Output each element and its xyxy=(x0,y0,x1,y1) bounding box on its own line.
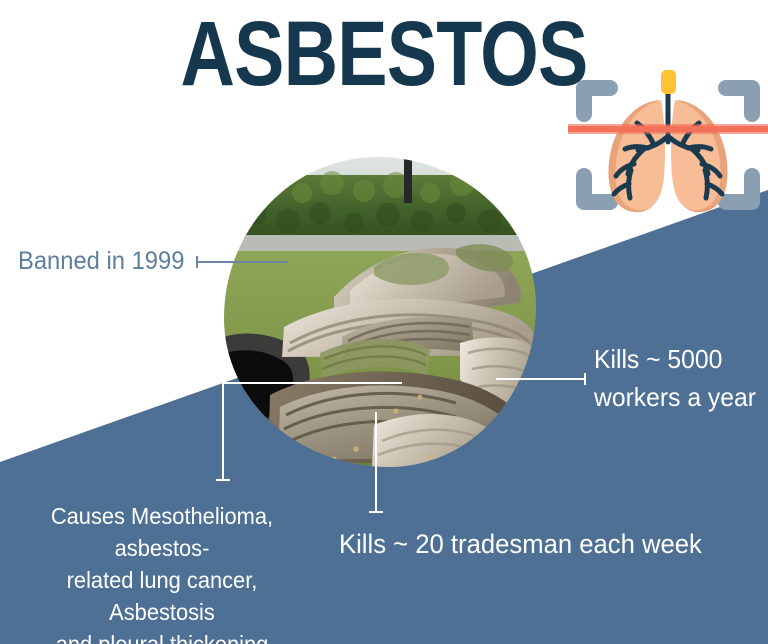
infographic-canvas: ASBESTOS xyxy=(0,0,768,644)
callout-causes-diseases: Causes Mesothelioma, asbestos- related l… xyxy=(14,500,310,644)
callout-kills-workers-line2: workers a year xyxy=(594,378,765,416)
callout-banned-in-1999: Banned in 1999 xyxy=(18,246,184,276)
trachea-tip-icon xyxy=(661,70,676,94)
callout-causes-line1: Causes Mesothelioma, asbestos- xyxy=(14,500,310,564)
callout-kills-tradesman: Kills ~ 20 tradesman each week xyxy=(339,527,702,561)
callout-kills-workers-line1: Kills ~ 5000 xyxy=(594,340,765,378)
asbestos-photo xyxy=(224,157,536,467)
callout-causes-line2: related lung cancer, Asbestosis xyxy=(14,564,310,628)
lungs-scan-graphic xyxy=(568,52,768,242)
callout-kills-workers: Kills ~ 5000 workers a year xyxy=(594,340,765,416)
callout-causes-line3: and pleural thickening xyxy=(14,628,310,644)
scan-line-icon xyxy=(568,124,768,134)
